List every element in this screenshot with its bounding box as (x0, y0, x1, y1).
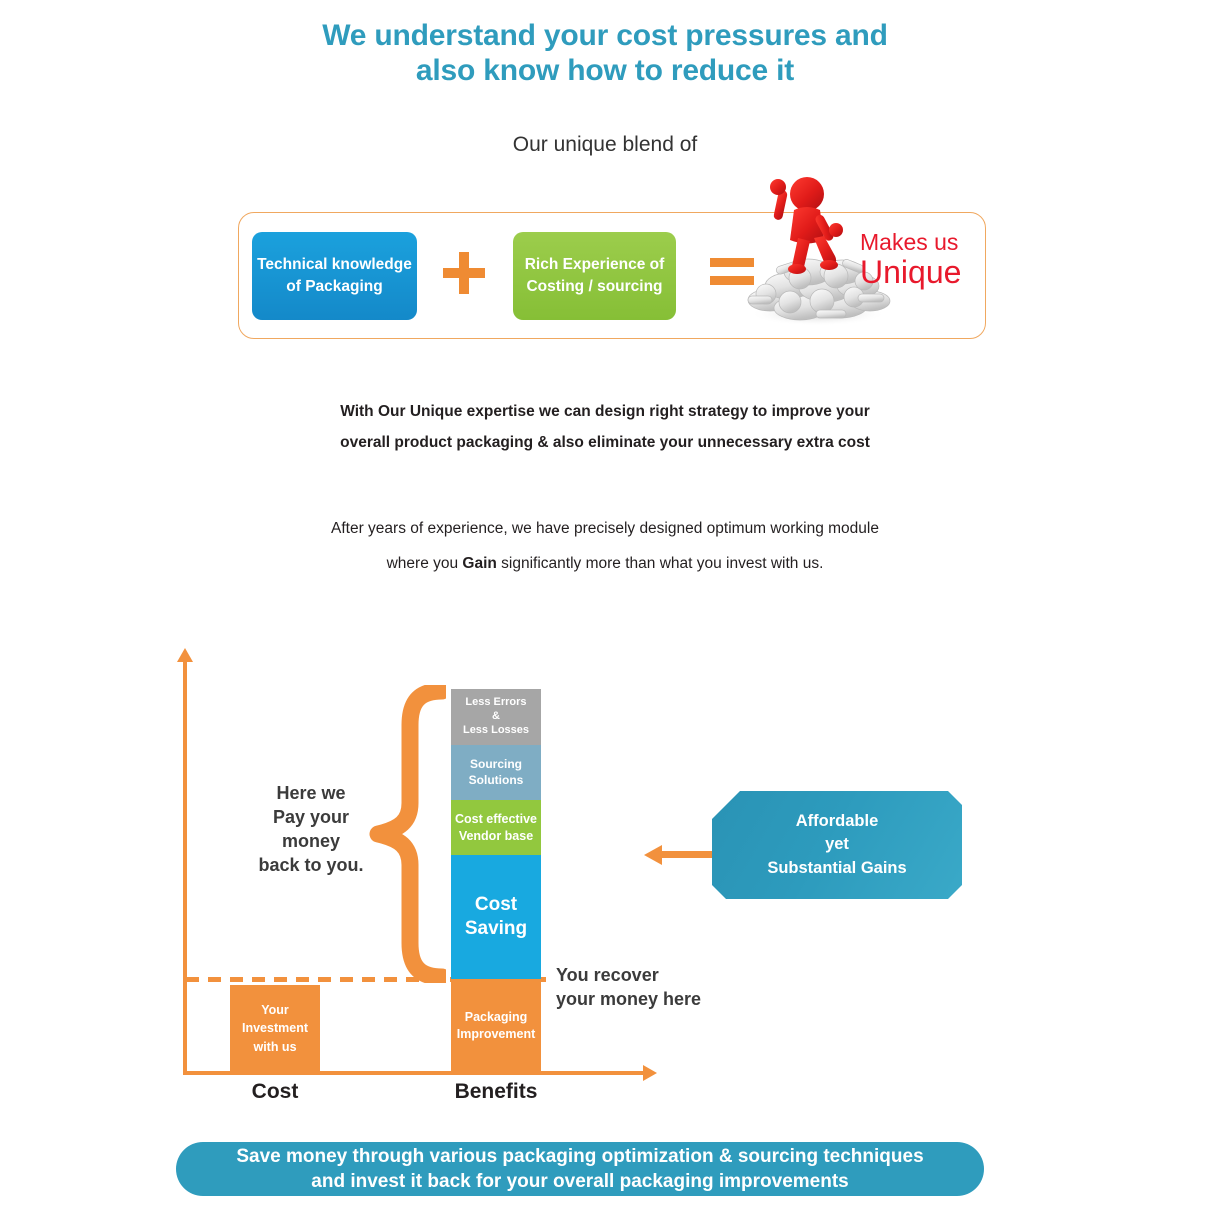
page-title-line-1: We understand your cost pressures and (322, 19, 888, 52)
packaging-line-2: Improvement (457, 1027, 536, 1041)
chart-x-axis-arrow-icon (643, 1065, 657, 1081)
plus-icon-vertical-bar (459, 252, 469, 294)
gains-arrow-shaft (660, 851, 716, 858)
bottom-banner-line-2: and invest it back for your overall pack… (236, 1169, 923, 1194)
vendor-line-1: Cost effective (455, 812, 537, 826)
experience-line-2-post: significantly more than what you invest … (497, 555, 824, 572)
cost-saving-line-2: Saving (465, 918, 527, 939)
bar-segment-packaging-label: Packaging Improvement (457, 1009, 536, 1043)
page-title: We understand your cost pressures and al… (0, 18, 1210, 89)
recover-line-2: your money here (556, 987, 756, 1011)
bar-segment-vendor-base: Cost effective Vendor base (451, 800, 541, 855)
recover-line-1: You recover (556, 963, 756, 987)
technical-knowledge-label: Technical knowledge of Packaging (252, 254, 417, 298)
chart-y-axis-arrow-icon (177, 648, 193, 662)
gains-callout-text: Affordable yet Substantial Gains (767, 810, 906, 880)
gains-callout-line-3: Substantial Gains (767, 859, 906, 877)
bar-segment-sourcing-solutions: Sourcing Solutions (451, 745, 541, 800)
bar-segment-cost-saving-label: Cost Saving (465, 893, 527, 941)
vendor-line-2: Vendor base (459, 829, 533, 843)
expertise-paragraph-line-1: With Our Unique expertise we can design … (280, 396, 930, 427)
bar-segment-vendor-label: Cost effective Vendor base (455, 811, 537, 844)
recover-money-label: You recover your money here (556, 963, 756, 1012)
bottom-banner: Save money through various packaging opt… (176, 1142, 984, 1196)
sourcing-line-1: Sourcing (470, 757, 522, 771)
page-title-line-2: also know how to reduce it (0, 53, 1210, 88)
investment-label-line-3: with us (253, 1040, 296, 1054)
gains-arrow-icon (644, 845, 716, 865)
pay-back-line-2: Pay your (232, 806, 390, 830)
packaging-line-1: Packaging (465, 1010, 528, 1024)
expertise-paragraph-line-2: overall product packaging & also elimina… (280, 427, 930, 458)
bar-your-investment-label: Your Investment with us (242, 1001, 308, 1055)
axis-label-cost: Cost (215, 1080, 335, 1104)
bar-segment-packaging-improvement: Packaging Improvement (451, 979, 541, 1072)
investment-label-line-1: Your (261, 1003, 289, 1017)
gains-callout-line-1: Affordable (796, 812, 879, 830)
experience-line-2-pre: where you (387, 555, 463, 572)
bar-segment-less-errors-label: Less Errors & Less Losses (463, 696, 529, 737)
makes-us-unique-label: Makes us Unique (860, 230, 1010, 290)
pay-back-line-3: money (232, 830, 390, 854)
bar-segment-less-errors: Less Errors & Less Losses (451, 689, 541, 745)
makes-us-line: Makes us (860, 230, 1010, 254)
unique-line: Unique (860, 256, 1010, 290)
technical-knowledge-card: Technical knowledge of Packaging (252, 232, 417, 320)
pay-back-line-4: back to you. (232, 854, 390, 878)
gains-callout: Affordable yet Substantial Gains (712, 791, 962, 899)
less-errors-line-1: Less Errors (465, 696, 526, 708)
rich-experience-label: Rich Experience of Costing / sourcing (513, 254, 676, 298)
axis-label-benefits: Benefits (426, 1080, 566, 1104)
chart-y-axis (183, 660, 187, 1075)
less-errors-line-2: & (492, 710, 500, 722)
bar-your-investment: Your Investment with us (230, 985, 320, 1072)
less-errors-line-3: Less Losses (463, 724, 529, 736)
rich-experience-card: Rich Experience of Costing / sourcing (513, 232, 676, 320)
experience-paragraph: After years of experience, we have preci… (270, 512, 940, 582)
bar-segment-sourcing-label: Sourcing Solutions (469, 757, 524, 788)
cost-saving-line-1: Cost (475, 894, 517, 915)
investment-label-line-2: Investment (242, 1021, 308, 1035)
pay-back-line-1: Here we (232, 782, 390, 806)
blend-label: Our unique blend of (0, 133, 1210, 157)
pay-back-label: Here we Pay your money back to you. (232, 782, 390, 878)
sourcing-line-2: Solutions (469, 773, 524, 787)
experience-paragraph-line-2: where you Gain significantly more than w… (270, 547, 940, 582)
bottom-banner-text: Save money through various packaging opt… (236, 1144, 923, 1194)
bottom-banner-line-1: Save money through various packaging opt… (236, 1144, 923, 1169)
gains-callout-line-2: yet (825, 835, 849, 853)
gain-emphasis: Gain (462, 555, 496, 572)
experience-paragraph-line-1: After years of experience, we have preci… (270, 512, 940, 547)
bar-segment-cost-saving: Cost Saving (451, 855, 541, 979)
plus-icon (443, 252, 485, 294)
stacked-bar-benefits: Less Errors & Less Losses Sourcing Solut… (451, 689, 541, 1072)
expertise-paragraph: With Our Unique expertise we can design … (280, 396, 930, 458)
